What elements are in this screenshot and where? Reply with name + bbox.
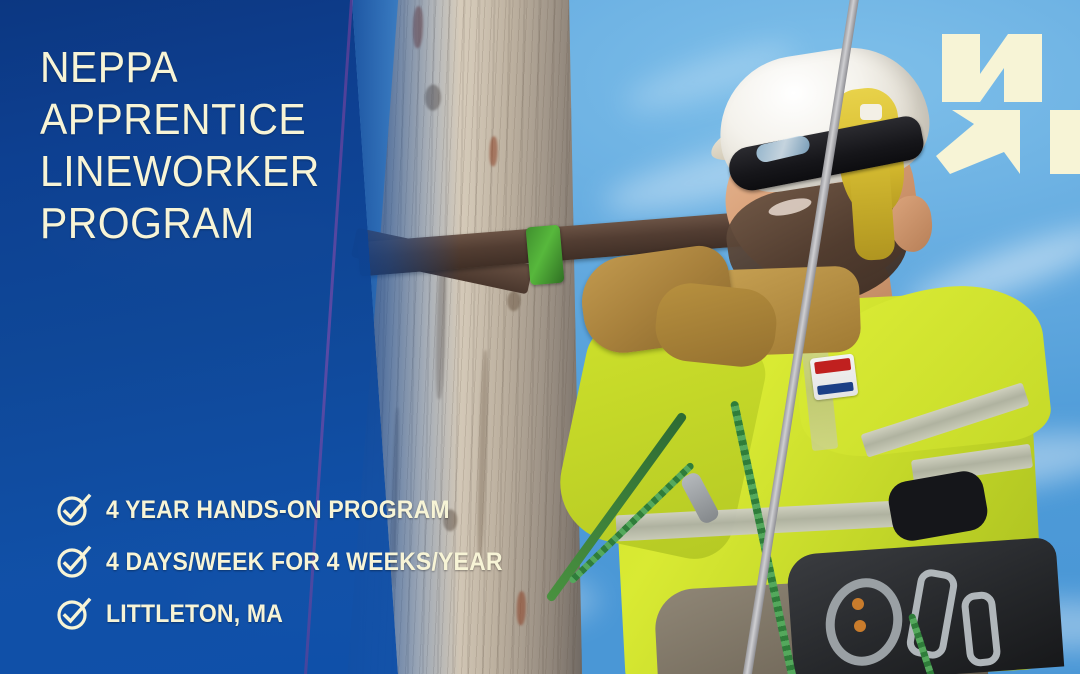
list-item: LITTLETON, MA xyxy=(56,588,537,640)
check-circle-icon xyxy=(56,545,90,579)
headline-line-4: PROGRAM xyxy=(40,198,320,250)
harness-rivet xyxy=(852,598,864,610)
neppa-logo xyxy=(934,28,1080,178)
hat-clip xyxy=(860,104,882,120)
headline-line-1: NEPPA xyxy=(40,42,320,94)
page-title: NEPPA APPRENTICE LINEWORKER PROGRAM xyxy=(40,42,320,250)
list-item: 4 YEAR HANDS-ON PROGRAM xyxy=(56,484,537,536)
list-item: 4 DAYS/WEEK FOR 4 WEEKS/YEAR xyxy=(56,536,537,588)
logo-letter-e xyxy=(1050,110,1080,174)
poster-canvas: NEPPA APPRENTICE LINEWORKER PROGRAM 4 YE… xyxy=(0,0,1080,674)
strap-buckle xyxy=(526,225,565,286)
list-item-label: 4 YEAR HANDS-ON PROGRAM xyxy=(106,496,450,525)
logo-letter-n xyxy=(942,34,1042,102)
leather-glove-fingers xyxy=(652,280,779,370)
list-item-label: LITTLETON, MA xyxy=(106,600,283,629)
logo-arrow-icon xyxy=(936,110,1020,174)
headline-line-3: LINEWORKER xyxy=(40,146,320,198)
check-circle-icon xyxy=(56,597,90,631)
harness-rivet xyxy=(854,620,866,632)
shirt-patch xyxy=(810,353,859,400)
headline-line-2: APPRENTICE xyxy=(40,94,320,146)
list-item-label: 4 DAYS/WEEK FOR 4 WEEKS/YEAR xyxy=(106,548,503,577)
check-circle-icon xyxy=(56,493,90,527)
feature-list: 4 YEAR HANDS-ON PROGRAM 4 DAYS/WEEK FOR … xyxy=(56,484,537,640)
